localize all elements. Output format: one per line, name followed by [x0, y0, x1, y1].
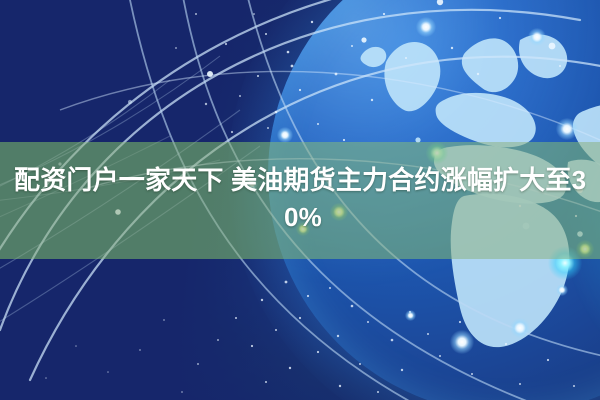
headline-line-2: 0% — [14, 199, 592, 236]
headline-text: 配资门户一家天下 美油期货主力合约涨幅扩大至3 0% — [14, 162, 592, 236]
news-banner-image: 配资门户一家天下 美油期货主力合约涨幅扩大至3 0% — [0, 0, 600, 400]
headline-line-1: 配资门户一家天下 美油期货主力合约涨幅扩大至3 — [14, 162, 592, 199]
